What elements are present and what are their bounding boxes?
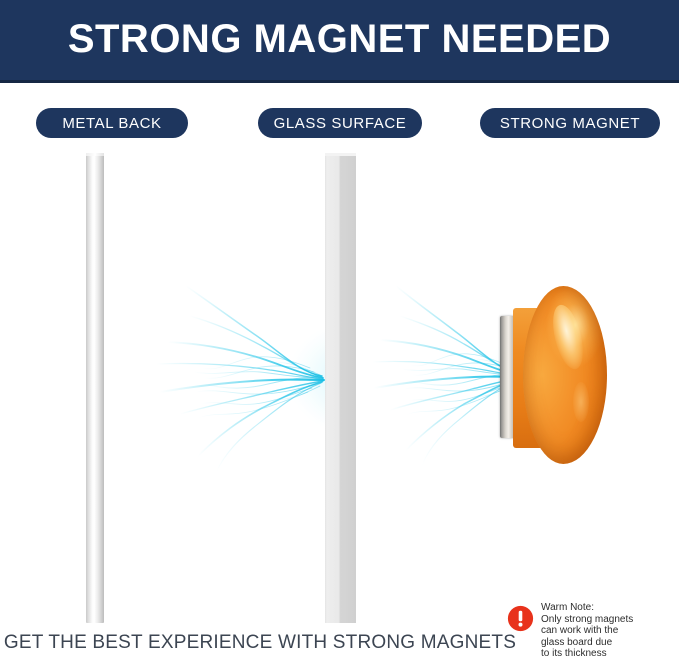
label-pill-strong-magnet: STRONG MAGNET [480, 108, 660, 138]
metal-back-bar [86, 153, 104, 623]
warning-line-3: can work with the [541, 625, 633, 637]
warning-exclamation-icon [507, 605, 534, 632]
magnet-highlight-secondary [573, 382, 589, 422]
magnetic-field-left-icon [150, 280, 325, 475]
warning-line-1: Warm Note: [541, 602, 633, 614]
label-pill-metal-back: METAL BACK [36, 108, 188, 138]
product-infographic: STRONG MAGNET NEEDED METAL BACK GLASS SU… [0, 0, 679, 660]
glass-surface-bar [325, 153, 356, 623]
warning-line-4: glass board due [541, 637, 633, 649]
magnet-object [497, 286, 607, 464]
header-banner: STRONG MAGNET NEEDED [0, 0, 679, 83]
warning-note-text: Warm Note: Only strong magnets can work … [541, 602, 633, 660]
page-title: STRONG MAGNET NEEDED [0, 17, 679, 62]
warning-line-2: Only strong magnets [541, 614, 633, 626]
bottom-caption: GET THE BEST EXPERIENCE WITH STRONG MAGN… [0, 632, 520, 654]
label-pill-glass-surface: GLASS SURFACE [258, 108, 422, 138]
warning-line-5: to its thickness [541, 648, 633, 660]
warning-note: Warm Note: Only strong magnets can work … [507, 602, 675, 660]
